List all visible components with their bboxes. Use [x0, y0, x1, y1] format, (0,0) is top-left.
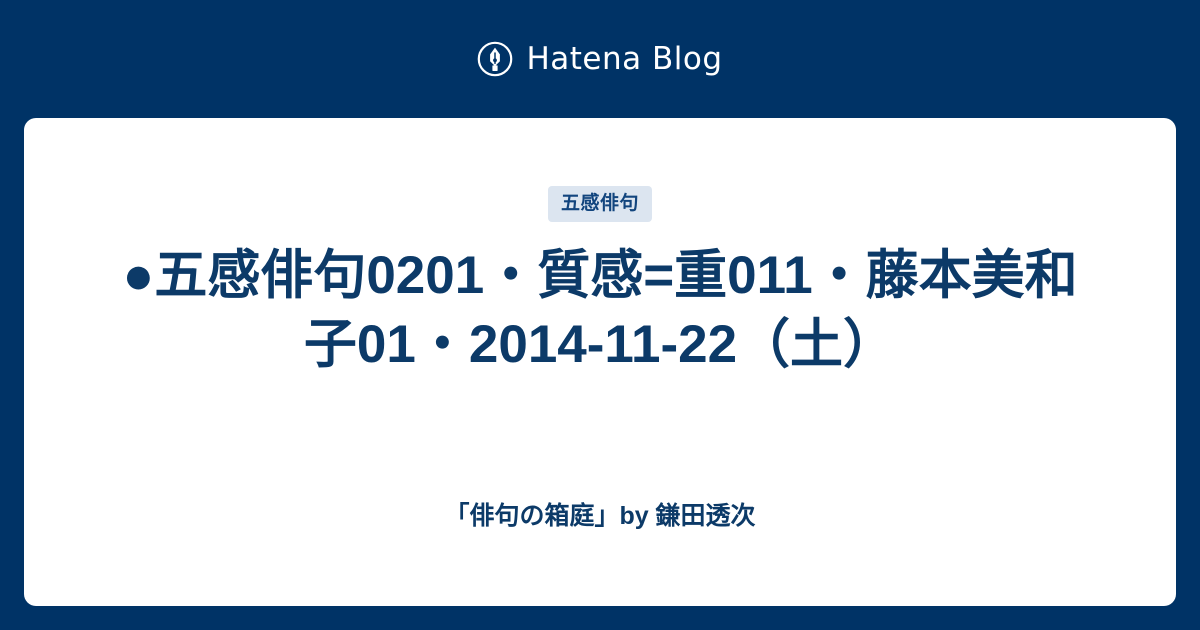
content-card: 五感俳句 ●五感俳句0201・質感=重011・藤本美和子01・2014-11-2…	[24, 118, 1176, 606]
brand-wordmark: Hatena Blog	[526, 44, 722, 75]
brand-header: Hatena Blog	[0, 0, 1200, 118]
hatena-pen-nib-icon	[477, 41, 513, 77]
page-title: ●五感俳句0201・質感=重011・藤本美和子01・2014-11-22（土）	[30, 242, 1170, 380]
blog-name: 「俳句の箱庭」by 鎌田透次	[444, 504, 755, 529]
category-badge[interactable]: 五感俳句	[548, 186, 652, 222]
og-image-root: Hatena Blog 五感俳句 ●五感俳句0201・質感=重011・藤本美和子…	[0, 0, 1200, 630]
